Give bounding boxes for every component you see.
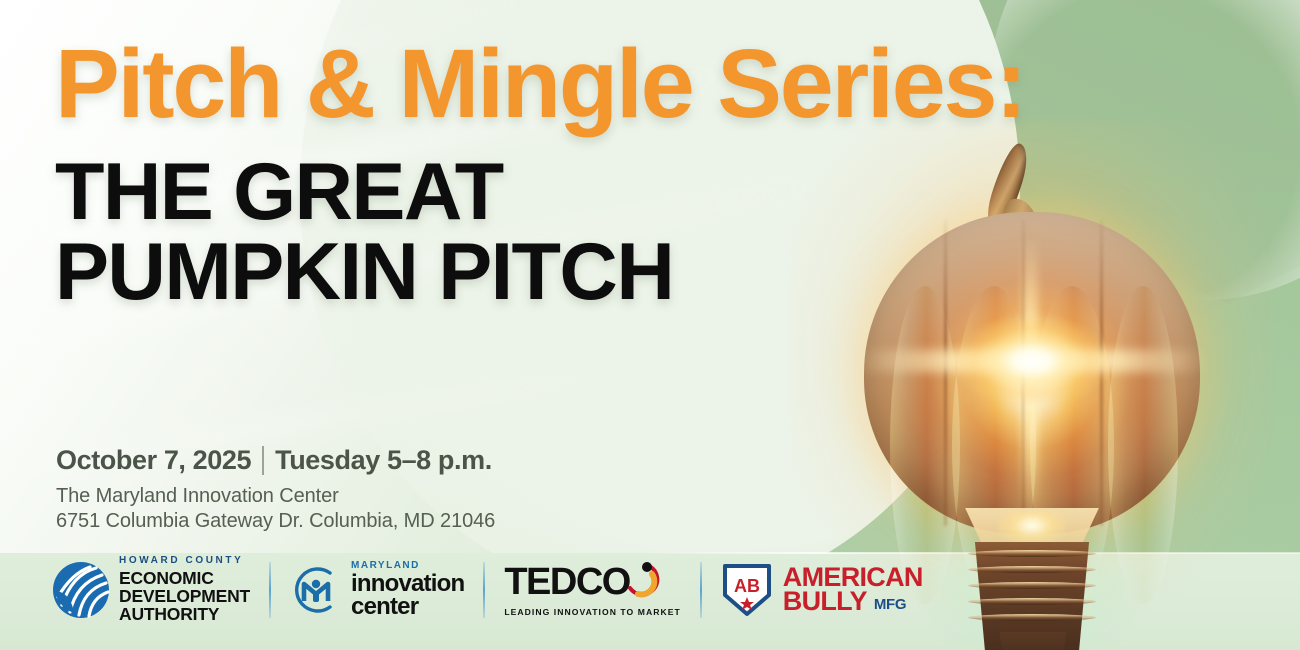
tedco-tagline: LEADING INNOVATION TO MARKET (504, 607, 680, 617)
american-bully-line2: BULLY (783, 590, 867, 614)
tedco-wordmark: TEDCO (504, 565, 630, 599)
event-venue: The Maryland Innovation Center (56, 485, 495, 508)
logo-divider (700, 562, 702, 618)
sponsor-logo-bar: HOWARD COUNTY ECONOMIC DEVELOPMENT AUTHO… (52, 556, 923, 624)
bulb-filament (956, 318, 1108, 404)
page-title-line1: THE GREAT (55, 152, 1255, 232)
series-title: Pitch & Mingle Series: (55, 34, 1255, 134)
orbit-icon (618, 558, 662, 602)
logo-divider (269, 562, 271, 618)
american-bully-suffix: MFG (874, 598, 906, 613)
swirl-circle-icon (52, 561, 110, 619)
event-details: October 7, 2025 Tuesday 5–8 p.m. The Mar… (56, 445, 495, 533)
logo-divider (483, 562, 485, 618)
event-time: Tuesday 5–8 p.m. (275, 445, 492, 476)
bulb-thread (968, 598, 1096, 605)
shield-icon: AB (721, 561, 773, 619)
event-address: 6751 Columbia Gateway Dr. Columbia, MD 2… (56, 510, 495, 533)
svg-text:AB: AB (734, 576, 760, 596)
bulb-thread (968, 550, 1096, 557)
bulb-thread (968, 582, 1096, 589)
event-datetime: October 7, 2025 Tuesday 5–8 p.m. (56, 445, 495, 476)
datetime-separator (262, 446, 264, 475)
sponsor-logo-maryland-innovation-center[interactable]: MARYLAND innovation center (290, 561, 464, 618)
headline-block: Pitch & Mingle Series: THE GREAT PUMPKIN… (55, 34, 1255, 312)
page-title-line2: PUMPKIN PITCH (55, 232, 1255, 312)
bulb-thread (968, 566, 1096, 573)
sponsor-logo-howard-county-eda[interactable]: HOWARD COUNTY ECONOMIC DEVELOPMENT AUTHO… (52, 556, 250, 624)
bulb-thread (968, 614, 1096, 621)
hceda-name-line3: AUTHORITY (119, 605, 250, 623)
mic-monogram-icon (290, 564, 342, 616)
hceda-name-line1: ECONOMIC (119, 569, 250, 587)
sponsor-logo-tedco[interactable]: TEDCO LEADING INNOVATION TO MARKET (504, 562, 680, 617)
bulb-contact-tip (1000, 632, 1066, 650)
mic-name-line2: center (351, 596, 464, 618)
event-banner: Pitch & Mingle Series: THE GREAT PUMPKIN… (0, 0, 1300, 650)
hceda-name-line2: DEVELOPMENT (119, 587, 250, 605)
hceda-kicker: HOWARD COUNTY (119, 556, 250, 566)
page-title: THE GREAT PUMPKIN PITCH (55, 152, 1255, 312)
event-date: October 7, 2025 (56, 445, 251, 476)
sponsor-logo-american-bully-mfg[interactable]: AB AMERICAN BULLY MFG (721, 561, 923, 619)
